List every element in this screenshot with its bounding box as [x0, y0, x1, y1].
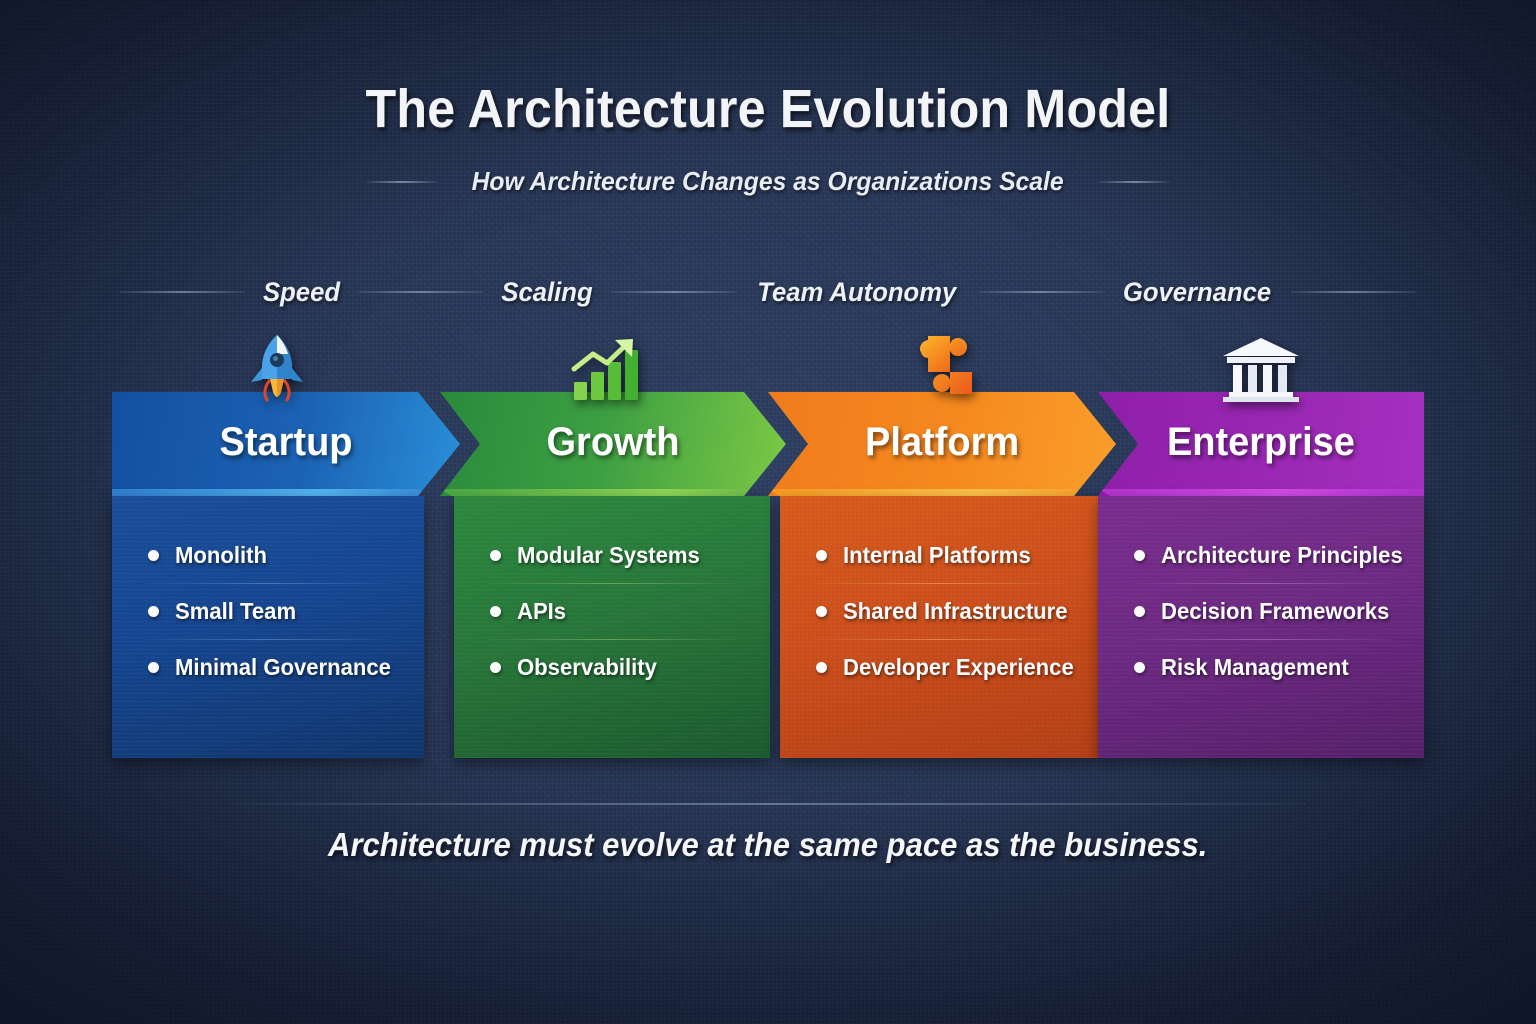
- list-item-label: Shared Infrastructure: [843, 598, 1068, 625]
- list-item: Developer Experience: [780, 640, 1098, 695]
- stage-banner-platform: Platform: [768, 392, 1116, 496]
- list-item: Small Team: [112, 584, 424, 639]
- list-item-label: APIs: [517, 598, 566, 625]
- list-item: APIs: [454, 584, 770, 639]
- bullet-icon: [148, 606, 159, 617]
- list-item: Shared Infrastructure: [780, 584, 1098, 639]
- category-rule: [1291, 291, 1416, 293]
- rocket-icon: [112, 330, 442, 402]
- stage-banner-startup: Startup: [112, 392, 460, 496]
- category-rule: [120, 291, 245, 293]
- stage-title: Startup: [220, 420, 353, 469]
- banner-accent: [440, 489, 786, 496]
- bar-chart-growth-icon: [440, 330, 770, 402]
- stage-body-enterprise: Architecture Principles Decision Framewo…: [1098, 496, 1424, 758]
- list-item-label: Architecture Principles: [1161, 542, 1403, 569]
- category-rule: [978, 291, 1103, 293]
- list-item-label: Modular Systems: [517, 542, 700, 569]
- bullet-icon: [816, 550, 827, 561]
- stage-column-platform: Platform Internal Platforms Shared Infra…: [768, 330, 1110, 760]
- bullet-icon: [816, 606, 827, 617]
- list-item: Modular Systems: [454, 528, 770, 583]
- list-item: Architecture Principles: [1098, 528, 1424, 583]
- footer-text: Architecture must evolve at the same pac…: [328, 826, 1207, 864]
- footer-divider: [232, 803, 1306, 805]
- institution-icon: [1098, 330, 1424, 402]
- page-subtitle: How Architecture Changes as Organization…: [472, 166, 1064, 197]
- stage-column-startup: Startup Monolith Small Team Minimal Gove…: [112, 330, 442, 760]
- stage-title: Platform: [865, 420, 1019, 469]
- subtitle-row: How Architecture Changes as Organization…: [0, 166, 1536, 197]
- category-rule: [611, 291, 736, 293]
- list-item: Observability: [454, 640, 770, 695]
- bullet-icon: [490, 550, 501, 561]
- banner-accent: [1098, 489, 1424, 496]
- stage-title: Enterprise: [1167, 420, 1355, 469]
- stage-column-growth: Growth Modular Systems APIs Observabilit…: [440, 330, 770, 760]
- list-item: Internal Platforms: [780, 528, 1098, 583]
- list-item-label: Developer Experience: [843, 654, 1074, 681]
- list-item-label: Observability: [517, 654, 657, 681]
- bullet-icon: [490, 662, 501, 673]
- bullet-icon: [816, 662, 827, 673]
- subtitle-rule-right: [1098, 181, 1170, 183]
- stage-title: Growth: [546, 420, 679, 469]
- stage-body-growth: Modular Systems APIs Observability: [454, 496, 770, 758]
- list-item-label: Minimal Governance: [175, 654, 391, 681]
- banner-accent: [112, 489, 460, 496]
- bullet-icon: [148, 550, 159, 561]
- stage-body-startup: Monolith Small Team Minimal Governance: [112, 496, 424, 758]
- stage-columns: Startup Monolith Small Team Minimal Gove…: [112, 330, 1424, 760]
- category-label-governance: Governance: [1108, 277, 1287, 308]
- stage-body-platform: Internal Platforms Shared Infrastructure…: [780, 496, 1098, 758]
- list-item-label: Small Team: [175, 598, 296, 625]
- footer: Architecture must evolve at the same pac…: [0, 826, 1536, 864]
- header: The Architecture Evolution Model How Arc…: [0, 78, 1536, 197]
- stage-banner-enterprise: Enterprise: [1098, 392, 1424, 496]
- category-label-team-autonomy: Team Autonomy: [742, 277, 971, 308]
- category-label-scaling: Scaling: [486, 277, 608, 308]
- category-label-speed: Speed: [248, 277, 355, 308]
- bullet-icon: [148, 662, 159, 673]
- stage-banner-growth: Growth: [440, 392, 786, 496]
- bullet-icon: [1134, 662, 1145, 673]
- list-item: Risk Management: [1098, 640, 1424, 695]
- banner-accent: [768, 489, 1116, 496]
- subtitle-rule-left: [366, 181, 438, 183]
- bullet-icon: [1134, 550, 1145, 561]
- list-item-label: Decision Frameworks: [1161, 598, 1389, 625]
- bullet-icon: [490, 606, 501, 617]
- category-rule: [358, 291, 483, 293]
- stage-column-enterprise: Enterprise Architecture Principles Decis…: [1098, 330, 1424, 760]
- list-item: Minimal Governance: [112, 640, 424, 695]
- list-item: Decision Frameworks: [1098, 584, 1424, 639]
- list-item-label: Risk Management: [1161, 654, 1349, 681]
- page-title: The Architecture Evolution Model: [54, 78, 1482, 140]
- infographic-canvas: The Architecture Evolution Model How Arc…: [0, 0, 1536, 1024]
- puzzle-piece-icon: [768, 330, 1110, 402]
- list-item-label: Internal Platforms: [843, 542, 1031, 569]
- category-strip: Speed Scaling Team Autonomy Governance: [120, 270, 1416, 314]
- list-item: Monolith: [112, 528, 424, 583]
- list-item-label: Monolith: [175, 542, 267, 569]
- bullet-icon: [1134, 606, 1145, 617]
